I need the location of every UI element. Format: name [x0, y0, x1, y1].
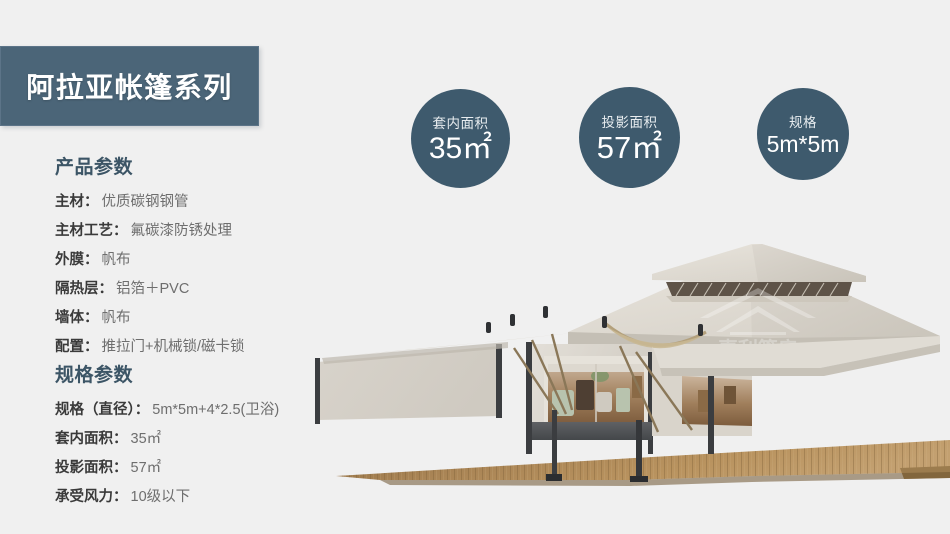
- stat-value: 5m*5m: [767, 132, 840, 156]
- spec-row: 承受风力：10级以下: [55, 483, 330, 512]
- spec-row: 外膜：帆布: [55, 246, 330, 275]
- spec-row: 套内面积：35㎡: [55, 425, 330, 454]
- section-heading-size: 规格参数: [0, 360, 330, 387]
- stat-value: 57㎡: [597, 132, 662, 165]
- stat-label: 投影面积: [602, 111, 658, 131]
- interior-chair: [724, 386, 736, 404]
- tent-illustration: 喜利篷房 HAPPY TENT: [300, 240, 950, 490]
- spec-label: 投影面积：: [55, 460, 128, 476]
- spec-label: 主材工艺：: [55, 223, 128, 239]
- deck-post-1-foot: [630, 476, 648, 482]
- cupola-roof-right: [752, 244, 866, 282]
- spec-value: 推拉门+机械锁/磁卡锁: [102, 339, 245, 355]
- spec-row: 主材：优质碳钢钢管: [55, 188, 330, 217]
- cupola-base-trim: [666, 296, 852, 302]
- title-banner: 阿拉亚帐篷系列: [0, 46, 259, 126]
- stat-circle-projected-area: 投影面积 57㎡: [579, 87, 680, 188]
- stat-circle-interior-area: 套内面积 35㎡: [411, 89, 510, 188]
- stat-label: 套内面积: [433, 112, 489, 132]
- right-interior-opening: [682, 376, 752, 426]
- spec-row: 投影面积：57㎡: [55, 454, 330, 483]
- size-parameters-list: 规格（直径）：5m*5m+4*2.5(卫浴) 套内面积：35㎡ 投影面积：57㎡…: [0, 396, 330, 512]
- spec-label: 墙体：: [55, 310, 99, 326]
- spec-label: 外膜：: [55, 252, 99, 268]
- spec-value: 帆布: [102, 310, 131, 326]
- deck-post-1: [636, 420, 642, 478]
- spec-row: 隔热层：铝箔＋PVC: [55, 275, 330, 304]
- product-parameters-list: 主材：优质碳钢钢管 主材工艺：氟碳漆防锈处理 外膜：帆布 隔热层：铝箔＋PVC …: [0, 188, 330, 362]
- annex-left-post: [315, 358, 320, 424]
- spec-label: 配置：: [55, 339, 99, 355]
- product-parameters-block: 产品参数 主材：优质碳钢钢管 主材工艺：氟碳漆防锈处理 外膜：帆布 隔热层：铝箔…: [0, 152, 330, 362]
- stat-value: 35㎡: [429, 133, 492, 165]
- spec-row: 规格（直径）：5m*5m+4*2.5(卫浴): [55, 396, 330, 425]
- spec-value: 铝箔＋PVC: [116, 281, 189, 297]
- spec-value: 氟碳漆防锈处理: [131, 223, 233, 239]
- page-title: 阿拉亚帐篷系列: [26, 66, 233, 106]
- spec-label: 承受风力：: [55, 489, 128, 505]
- plinth-base: [532, 422, 652, 440]
- poster-canvas: 阿拉亚帐篷系列 产品参数 主材：优质碳钢钢管 主材工艺：氟碳漆防锈处理 外膜：帆…: [0, 0, 950, 534]
- spec-label: 套内面积：: [55, 431, 128, 447]
- spec-row: 墙体：帆布: [55, 304, 330, 333]
- section-heading-product: 产品参数: [0, 152, 330, 179]
- spec-value: 57㎡: [131, 460, 162, 476]
- deck-post-2: [552, 410, 557, 478]
- spec-row: 主材工艺：氟碳漆防锈处理: [55, 217, 330, 246]
- spec-value: 优质碳钢钢管: [102, 194, 189, 210]
- spec-value: 10级以下: [131, 489, 191, 505]
- guy-wire-tips-left: [486, 306, 548, 333]
- spec-label: 规格（直径）：: [55, 402, 149, 418]
- spec-value: 35㎡: [131, 431, 162, 447]
- spec-value: 5m*5m+4*2.5(卫浴): [152, 402, 279, 418]
- size-parameters-block: 规格参数 规格（直径）：5m*5m+4*2.5(卫浴) 套内面积：35㎡ 投影面…: [0, 360, 330, 512]
- deck-post-2-foot: [546, 474, 562, 481]
- stat-circle-dimensions: 规格 5m*5m: [757, 88, 849, 180]
- spec-label: 隔热层：: [55, 281, 113, 297]
- spec-value: 帆布: [102, 252, 131, 268]
- stat-label: 规格: [789, 111, 817, 131]
- tent-render-svg: 喜利篷房 HAPPY TENT: [300, 240, 950, 490]
- front-wall-left-post: [526, 342, 532, 454]
- annex-right-post: [496, 344, 502, 418]
- spec-label: 主材：: [55, 194, 99, 210]
- spec-row: 配置：推拉门+机械锁/磁卡锁: [55, 333, 330, 362]
